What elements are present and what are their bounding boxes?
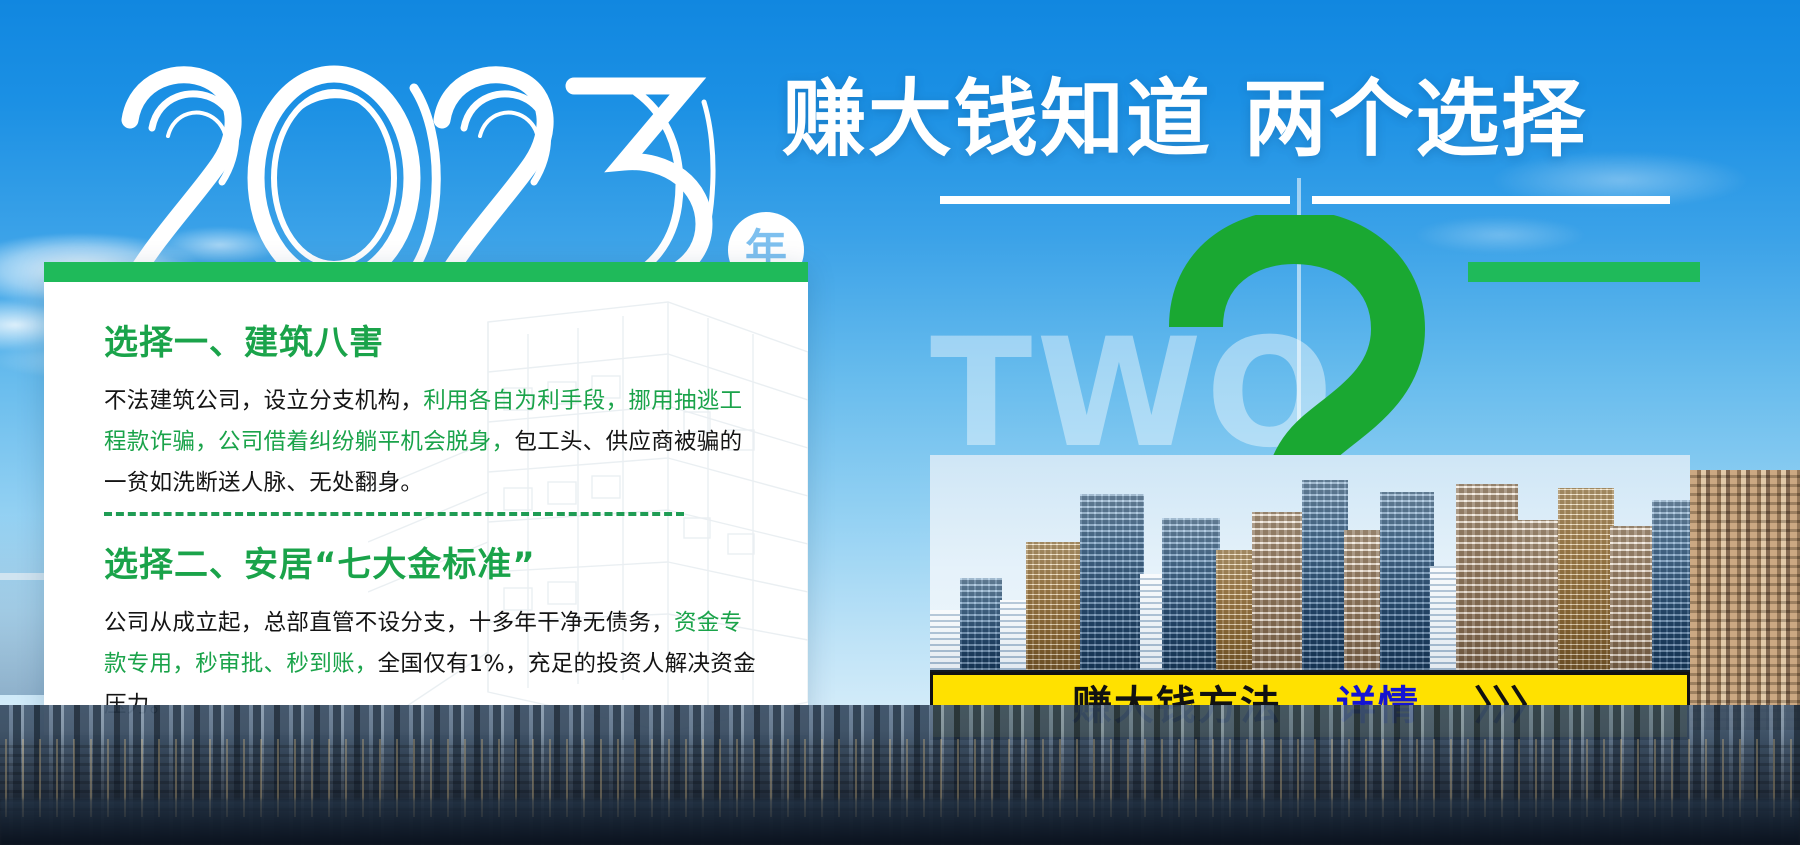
building bbox=[1344, 530, 1384, 670]
building bbox=[1216, 550, 1256, 670]
headline-rule-right bbox=[1312, 196, 1670, 204]
building bbox=[1302, 480, 1348, 670]
accent-bar-right bbox=[1468, 262, 1700, 282]
content-card: 选择一、建筑八害 不法建筑公司，设立分支机构，利用各自为利手段，挪用抽逃工程款诈… bbox=[44, 262, 808, 735]
card-content: 选择一、建筑八害 不法建筑公司，设立分支机构，利用各自为利手段，挪用抽逃工程款诈… bbox=[44, 282, 808, 735]
building bbox=[1514, 520, 1562, 670]
year-2023-graphic bbox=[112, 58, 732, 288]
headline-rule-left bbox=[940, 196, 1290, 204]
building bbox=[1026, 542, 1084, 670]
section-1-text-a: 不法建筑公司，设立分支机构， bbox=[104, 388, 423, 414]
banner-stage: 年 赚大钱知道 两个选择 TWO CHOICES bbox=[0, 0, 1800, 845]
building bbox=[1080, 494, 1144, 670]
building bbox=[1380, 492, 1434, 670]
card-top-bar bbox=[44, 262, 808, 282]
headline-rules bbox=[940, 196, 1670, 204]
building bbox=[1252, 512, 1304, 670]
building bbox=[930, 610, 964, 670]
year-2023-svg bbox=[112, 58, 732, 288]
section-divider bbox=[104, 512, 684, 516]
building bbox=[1456, 484, 1518, 670]
building bbox=[1558, 488, 1614, 670]
page-title: 赚大钱知道 两个选择 bbox=[782, 74, 1587, 165]
building bbox=[1162, 518, 1220, 670]
building bbox=[1610, 526, 1656, 670]
section-2-text-a: 公司从成立起，总部直管不设分支，十多年干净无债务， bbox=[104, 610, 674, 636]
section-1-body: 不法建筑公司，设立分支机构，利用各自为利手段，挪用抽逃工程款诈骗，公司借着纠纷躺… bbox=[104, 381, 759, 504]
city-photo-panel bbox=[930, 455, 1690, 675]
right-building-sliver bbox=[1690, 470, 1800, 730]
section-2-title: 选择二、安居“七大金标准” bbox=[104, 548, 536, 582]
bottom-water-reflection bbox=[0, 799, 1800, 845]
section-1-title: 选择一、建筑八害 bbox=[104, 326, 384, 360]
building bbox=[1652, 500, 1690, 670]
building bbox=[960, 578, 1002, 670]
